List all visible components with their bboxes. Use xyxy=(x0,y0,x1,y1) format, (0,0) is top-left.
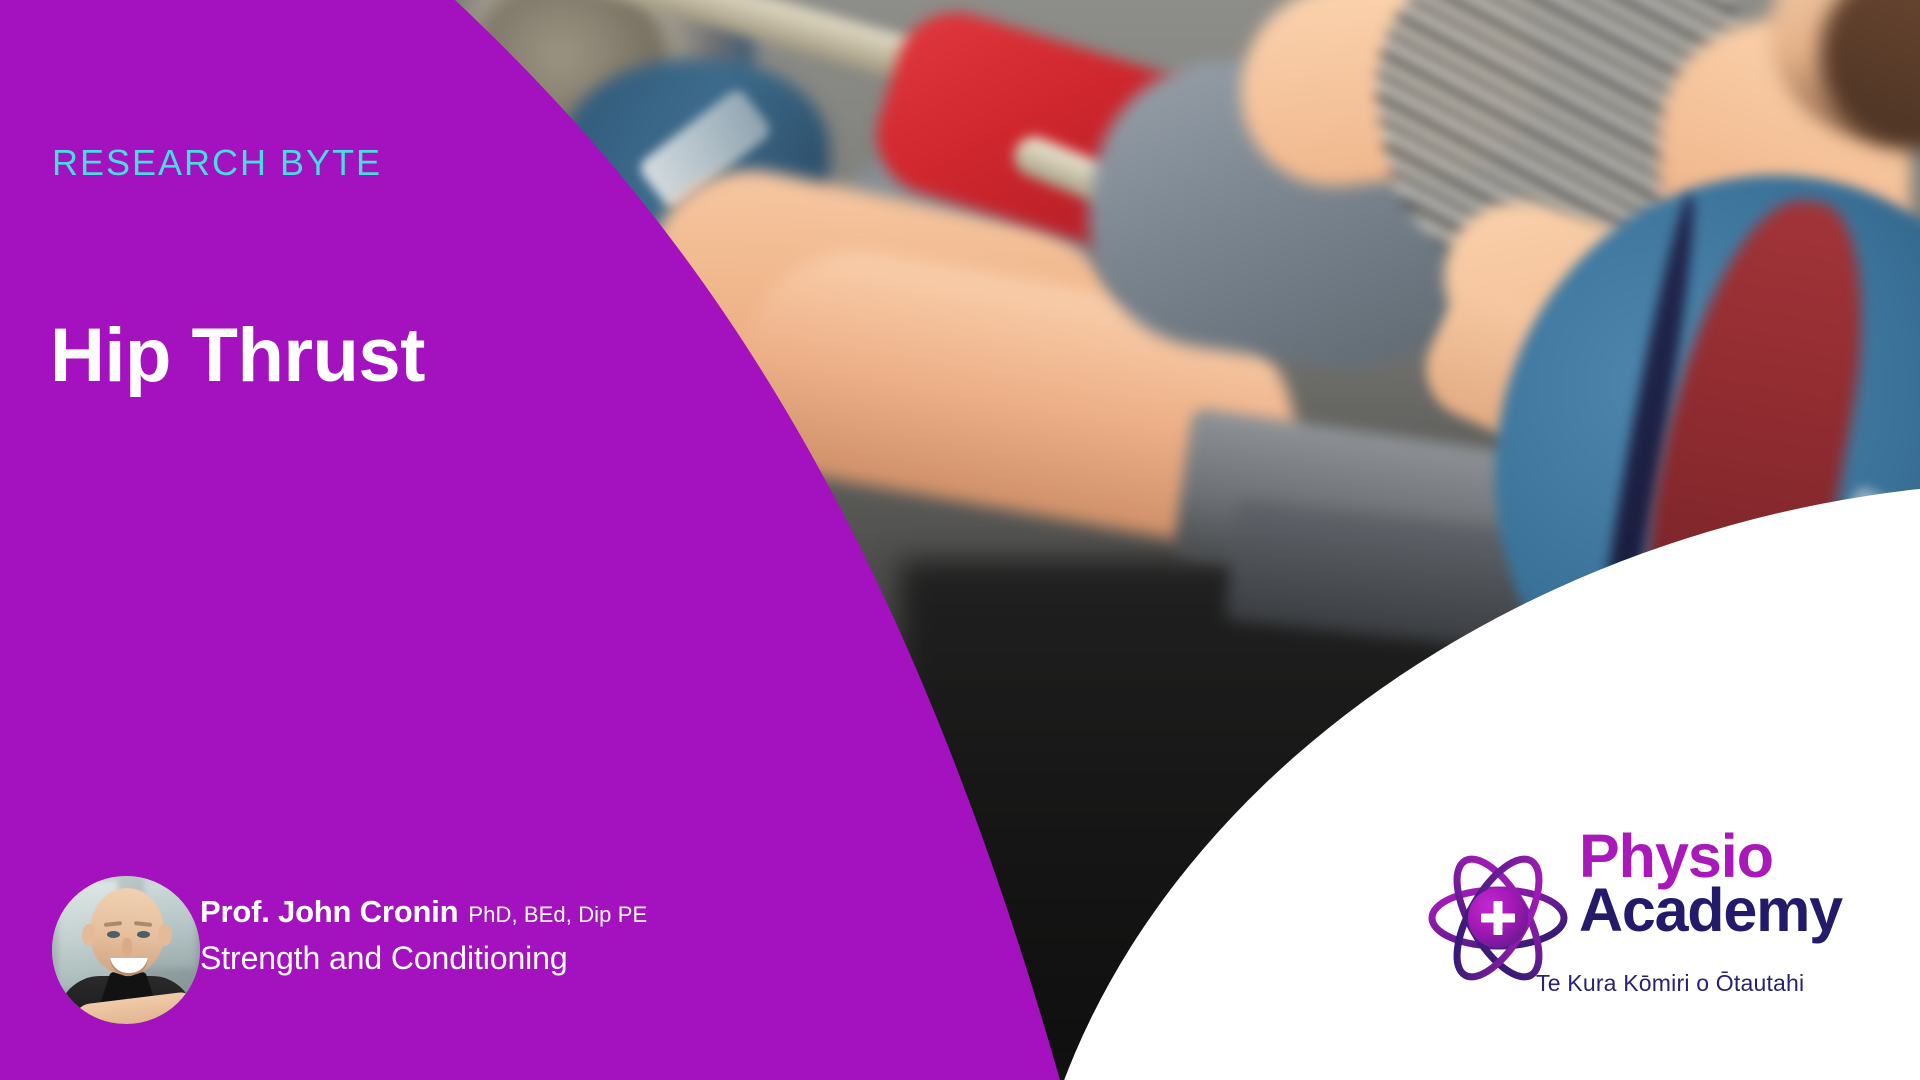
eyebrow-label: RESEARCH BYTE xyxy=(52,145,382,181)
logo-wordmark: Physio Academy xyxy=(1579,828,1879,940)
presenter-block: Prof. John CroninPhD, BEd, Dip PE Streng… xyxy=(52,876,812,1028)
avatar xyxy=(52,876,200,1024)
presenter-name: Prof. John Cronin xyxy=(200,894,458,929)
avatar-nose xyxy=(122,938,132,956)
presenter-text: Prof. John CroninPhD, BEd, Dip PE Streng… xyxy=(200,894,820,977)
page-title: Hip Thrust xyxy=(50,318,425,394)
logo-word-academy: Academy xyxy=(1579,882,1879,940)
logo-tagline: Te Kura Kōmiri o Ōtautahi xyxy=(1536,970,1804,997)
avatar-ear-right xyxy=(158,924,172,946)
presenter-role: Strength and Conditioning xyxy=(200,940,820,977)
slide-canvas: RESEARCH BYTE Hip Thrust Prof. John Cron… xyxy=(0,0,1920,1080)
presenter-credentials: PhD, BEd, Dip PE xyxy=(468,902,647,927)
avatar-eye-right xyxy=(137,931,150,938)
avatar-eye-left xyxy=(107,931,120,938)
avatar-ear-left xyxy=(82,924,96,946)
presenter-name-line: Prof. John CroninPhD, BEd, Dip PE xyxy=(200,894,820,930)
physio-academy-logo: Physio Academy Te Kura Kōmiri o Ōtautahi xyxy=(1424,838,1876,1006)
